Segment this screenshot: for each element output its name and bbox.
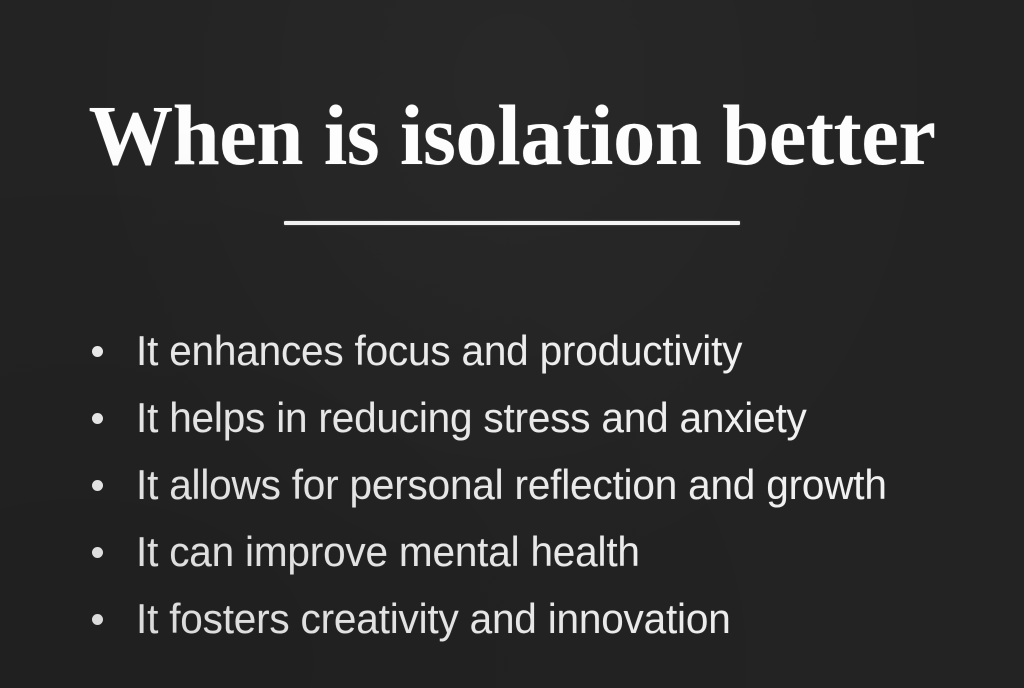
list-item: It helps in reducing stress and anxiety [86, 384, 986, 451]
bullet-text: It allows for personal reflection and gr… [136, 464, 887, 506]
bullet-dot-icon [92, 413, 103, 424]
list-item: It allows for personal reflection and gr… [86, 451, 986, 518]
bullet-dot-icon [92, 547, 103, 558]
slide-title: When is isolation better [88, 92, 935, 178]
presentation-slide: When is isolation better It enhances foc… [0, 0, 1024, 688]
bullet-text: It can improve mental health [136, 531, 640, 573]
bullet-list: It enhances focus and productivity It he… [86, 317, 986, 652]
list-item: It fosters creativity and innovation [86, 585, 986, 652]
bullet-text: It enhances focus and productivity [136, 330, 742, 372]
bullet-dot-icon [92, 614, 103, 625]
bullet-dot-icon [92, 346, 103, 357]
list-item: It enhances focus and productivity [86, 317, 986, 384]
title-divider [284, 221, 740, 225]
list-item: It can improve mental health [86, 518, 986, 585]
bullet-text: It fosters creativity and innovation [136, 598, 731, 640]
bullet-text: It helps in reducing stress and anxiety [136, 397, 807, 439]
title-block: When is isolation better [0, 92, 1024, 178]
bullet-dot-icon [92, 480, 103, 491]
title-divider-container [0, 221, 1024, 225]
